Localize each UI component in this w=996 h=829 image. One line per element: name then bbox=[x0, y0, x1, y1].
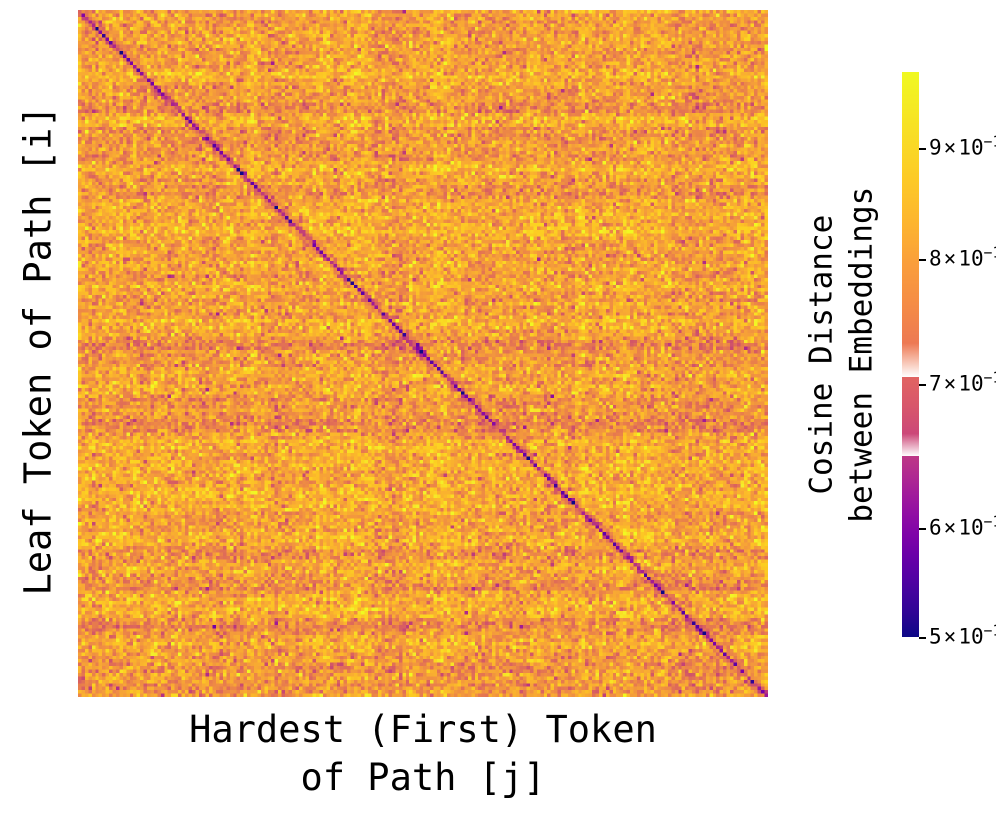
tick-multiplier: × bbox=[942, 247, 959, 271]
colorbar-label-rotated: Cosine Distance between Embeddings bbox=[802, 187, 881, 523]
colorbar-tick-label: 5×10−1 bbox=[929, 627, 996, 648]
x-axis-label-line1: Hardest (First) Token bbox=[189, 708, 657, 751]
colorbar-tick-mark bbox=[919, 148, 926, 150]
tick-exponent: −1 bbox=[984, 245, 996, 262]
y-axis-label: Leaf Token of Path [i] bbox=[0, 0, 76, 700]
tick-mantissa: 8 bbox=[929, 247, 942, 271]
tick-mantissa: 6 bbox=[929, 515, 942, 539]
colorbar-tick-label: 6×10−1 bbox=[929, 517, 996, 538]
y-axis-label-text: Leaf Token of Path [i] bbox=[20, 105, 57, 595]
colorbar: 9×10−18×10−17×10−16×10−15×10−1 bbox=[902, 72, 919, 637]
colorbar-label-line2: between Embeddings bbox=[842, 187, 882, 523]
colorbar-tick-mark bbox=[919, 259, 926, 261]
heatmap-plot-area bbox=[78, 10, 768, 697]
tick-base: 10 bbox=[958, 625, 983, 649]
colorbar-tick-mark bbox=[919, 384, 926, 386]
colorbar-tick-label: 9×10−1 bbox=[929, 137, 996, 158]
colorbar-gradient bbox=[902, 72, 919, 637]
colorbar-tick-mark bbox=[919, 528, 926, 530]
tick-base: 10 bbox=[958, 135, 983, 159]
tick-exponent: −1 bbox=[984, 513, 996, 530]
heatmap-image bbox=[78, 10, 768, 697]
tick-base: 10 bbox=[958, 515, 983, 539]
tick-multiplier: × bbox=[942, 372, 959, 396]
colorbar-label-line1: Cosine Distance bbox=[802, 187, 842, 523]
colorbar-tick-label: 8×10−1 bbox=[929, 249, 996, 270]
tick-exponent: −1 bbox=[984, 370, 996, 387]
x-axis-label: Hardest (First) Token of Path [j] bbox=[78, 706, 768, 802]
colorbar-tick-label: 7×10−1 bbox=[929, 374, 996, 395]
colorbar-label: Cosine Distance between Embeddings bbox=[792, 0, 892, 710]
tick-base: 10 bbox=[958, 247, 983, 271]
tick-base: 10 bbox=[958, 372, 983, 396]
tick-multiplier: × bbox=[942, 515, 959, 539]
tick-mantissa: 9 bbox=[929, 135, 942, 159]
tick-multiplier: × bbox=[942, 625, 959, 649]
tick-mantissa: 7 bbox=[929, 372, 942, 396]
tick-exponent: −1 bbox=[984, 623, 996, 640]
tick-mantissa: 5 bbox=[929, 625, 942, 649]
colorbar-tick-mark bbox=[919, 637, 926, 639]
tick-exponent: −1 bbox=[984, 133, 996, 150]
x-axis-label-line2: of Path [j] bbox=[78, 754, 768, 802]
tick-multiplier: × bbox=[942, 135, 959, 159]
